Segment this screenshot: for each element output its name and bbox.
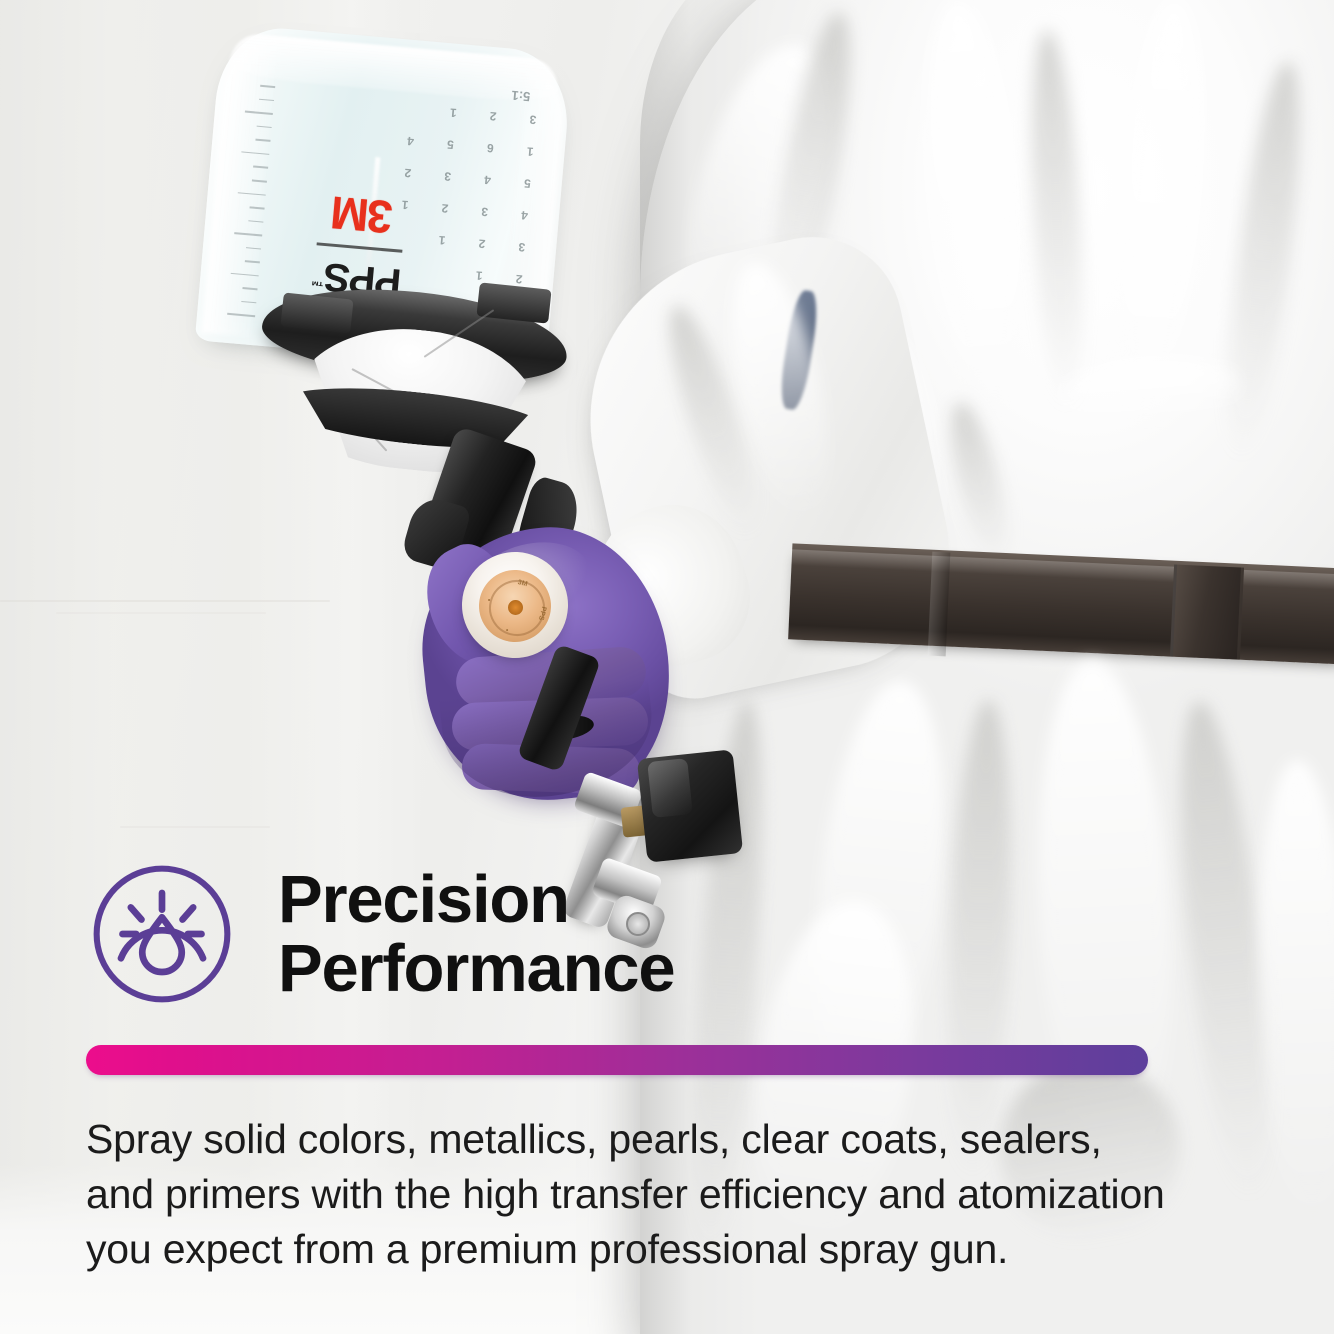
graduation-tick — [257, 125, 272, 128]
air-cap-text: PPS — [537, 606, 547, 621]
ratio-label: 2 — [478, 236, 486, 251]
gradient-divider — [86, 1045, 1148, 1075]
gauge-glass-reflection — [647, 758, 693, 818]
ratio-label: 3 — [481, 205, 489, 220]
page-title: Precision Performance — [278, 865, 674, 1003]
graduation-tick — [255, 139, 270, 142]
collar-tab — [280, 292, 353, 333]
graduation-tick — [260, 85, 275, 88]
promo-image: 1213214321543216543215:1 PPS™ 3M 3MPPS•• — [0, 0, 1334, 1334]
ratio-label: 4 — [484, 173, 492, 188]
graduation-tick — [231, 273, 259, 277]
3m-wordmark: 3M — [331, 191, 394, 237]
graduation-tick — [248, 220, 263, 223]
ratio-label: 2 — [515, 272, 523, 287]
ratio-label: 3 — [529, 112, 537, 127]
graduation-tick — [253, 166, 268, 169]
ratio-label: 1 — [475, 268, 483, 283]
wall-scuff — [0, 600, 330, 602]
air-cap-text: 3M — [517, 579, 528, 588]
air-cap-text: • — [505, 626, 509, 633]
graduation-tick — [259, 98, 274, 101]
ratio-label: 3 — [444, 169, 452, 184]
cup-brand-lockup: PPS™ 3M — [295, 93, 432, 303]
ratio-label: 1 — [526, 144, 534, 159]
graduation-tick — [241, 301, 256, 304]
ratio-label: 4 — [521, 208, 529, 223]
wall-scuff — [56, 612, 266, 614]
graduation-tick — [252, 179, 267, 182]
wall-scuff — [120, 826, 270, 828]
graduation-tick — [234, 232, 262, 236]
graduation-tick — [245, 260, 260, 263]
ratio-label: 3 — [518, 240, 526, 255]
ratio-label: 5 — [447, 137, 455, 152]
ratio-note: 5:1 — [511, 88, 531, 105]
body-description: Spray solid colors, metallics, pearls, c… — [86, 1112, 1176, 1277]
trademark-symbol: ™ — [311, 273, 324, 289]
ratio-label: 1 — [438, 233, 446, 248]
graduation-tick — [241, 151, 269, 155]
ratio-label: 5 — [523, 176, 531, 191]
graduation-tick — [238, 192, 266, 196]
headline-row: Precision Performance — [86, 858, 674, 1010]
graduation-tick — [250, 206, 265, 209]
caption-block: Precision Performance Spray solid colors… — [0, 840, 1334, 1334]
ratio-label: 1 — [449, 105, 457, 120]
ratio-label: 6 — [486, 141, 494, 156]
ratio-label: 2 — [441, 201, 449, 216]
air-cap-orifice — [508, 600, 523, 615]
graduation-tick — [246, 247, 261, 250]
graduation-tick — [242, 287, 257, 290]
graduation-tick — [245, 111, 273, 115]
air-cap-text: • — [486, 598, 493, 602]
gauge-droplet-icon — [86, 858, 238, 1010]
belt-buckle — [1170, 564, 1244, 659]
brand-divider — [317, 242, 403, 252]
ratio-label: 2 — [489, 109, 497, 124]
